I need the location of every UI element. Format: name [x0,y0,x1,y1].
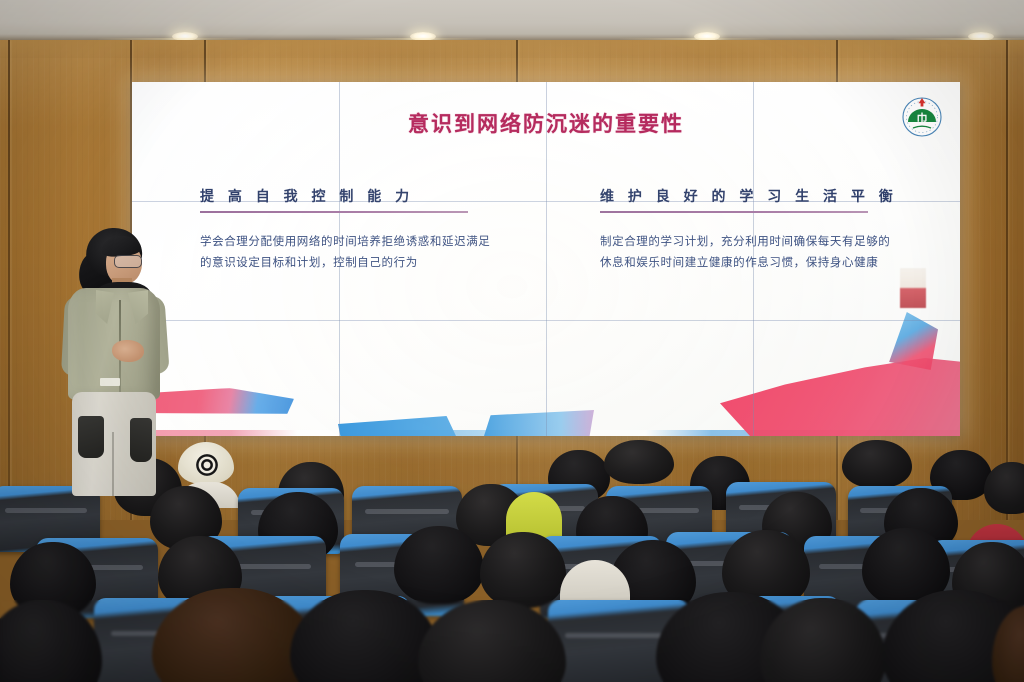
slide-column-underline [200,211,468,213]
led-video-wall[interactable]: 意识到网络防沉迷的重要性 提 高 自 我 控 制 能 力 学会合理分配使用网络的… [132,82,960,436]
slide-column-left: 提 高 自 我 控 制 能 力 学会合理分配使用网络的时间培养拒绝诱惑和延迟满足… [200,186,520,273]
slide-decoration-blue-a [338,416,456,436]
slide-decoration-red [720,358,960,436]
presenter-glasses-icon [114,255,142,268]
slide-column-heading: 提 高 自 我 控 制 能 力 [200,186,520,206]
audience-head [604,440,674,484]
slide-column-body: 制定合理的学习计划，充分利用时间确保每天有足够的休息和娱乐时间建立健康的作息习惯… [600,231,900,273]
presenter-jacket-tag [100,378,120,386]
svg-text:巾: 巾 [917,111,928,125]
audience-head [842,440,912,488]
slide-bottom-band [132,430,960,436]
audience-head [480,532,566,608]
presenter-leg-seam [112,432,114,496]
slide-decoration-flag [900,268,926,308]
lecture-hall-photo: 意识到网络防沉迷的重要性 提 高 自 我 控 制 能 力 学会合理分配使用网络的… [0,0,1024,682]
school-emblem-icon: 巾 [898,92,946,140]
presenter-pocket-right [130,418,152,462]
audience-head [394,526,484,604]
slide-column-right: 维 护 良 好 的 学 习 生 活 平 衡 制定合理的学习计划，充分利用时间确保… [600,186,930,273]
slide-column-underline [600,211,868,213]
slide-column-body: 学会合理分配使用网络的时间培养拒绝诱惑和延迟满足的意识设定目标和计划，控制自己的… [200,231,500,273]
beanie-motif [196,454,218,476]
slide-title: 意识到网络防沉迷的重要性 [132,108,960,138]
led-panel-seam [132,320,960,321]
slide-decoration-blue-b [484,410,594,436]
slide-decoration-accent [886,312,938,370]
slide-column-heading: 维 护 良 好 的 学 习 生 活 平 衡 [600,186,930,206]
presenter-hands [112,340,144,362]
wall-top-highlight [0,40,1024,58]
presenter-pocket-left [78,416,104,458]
